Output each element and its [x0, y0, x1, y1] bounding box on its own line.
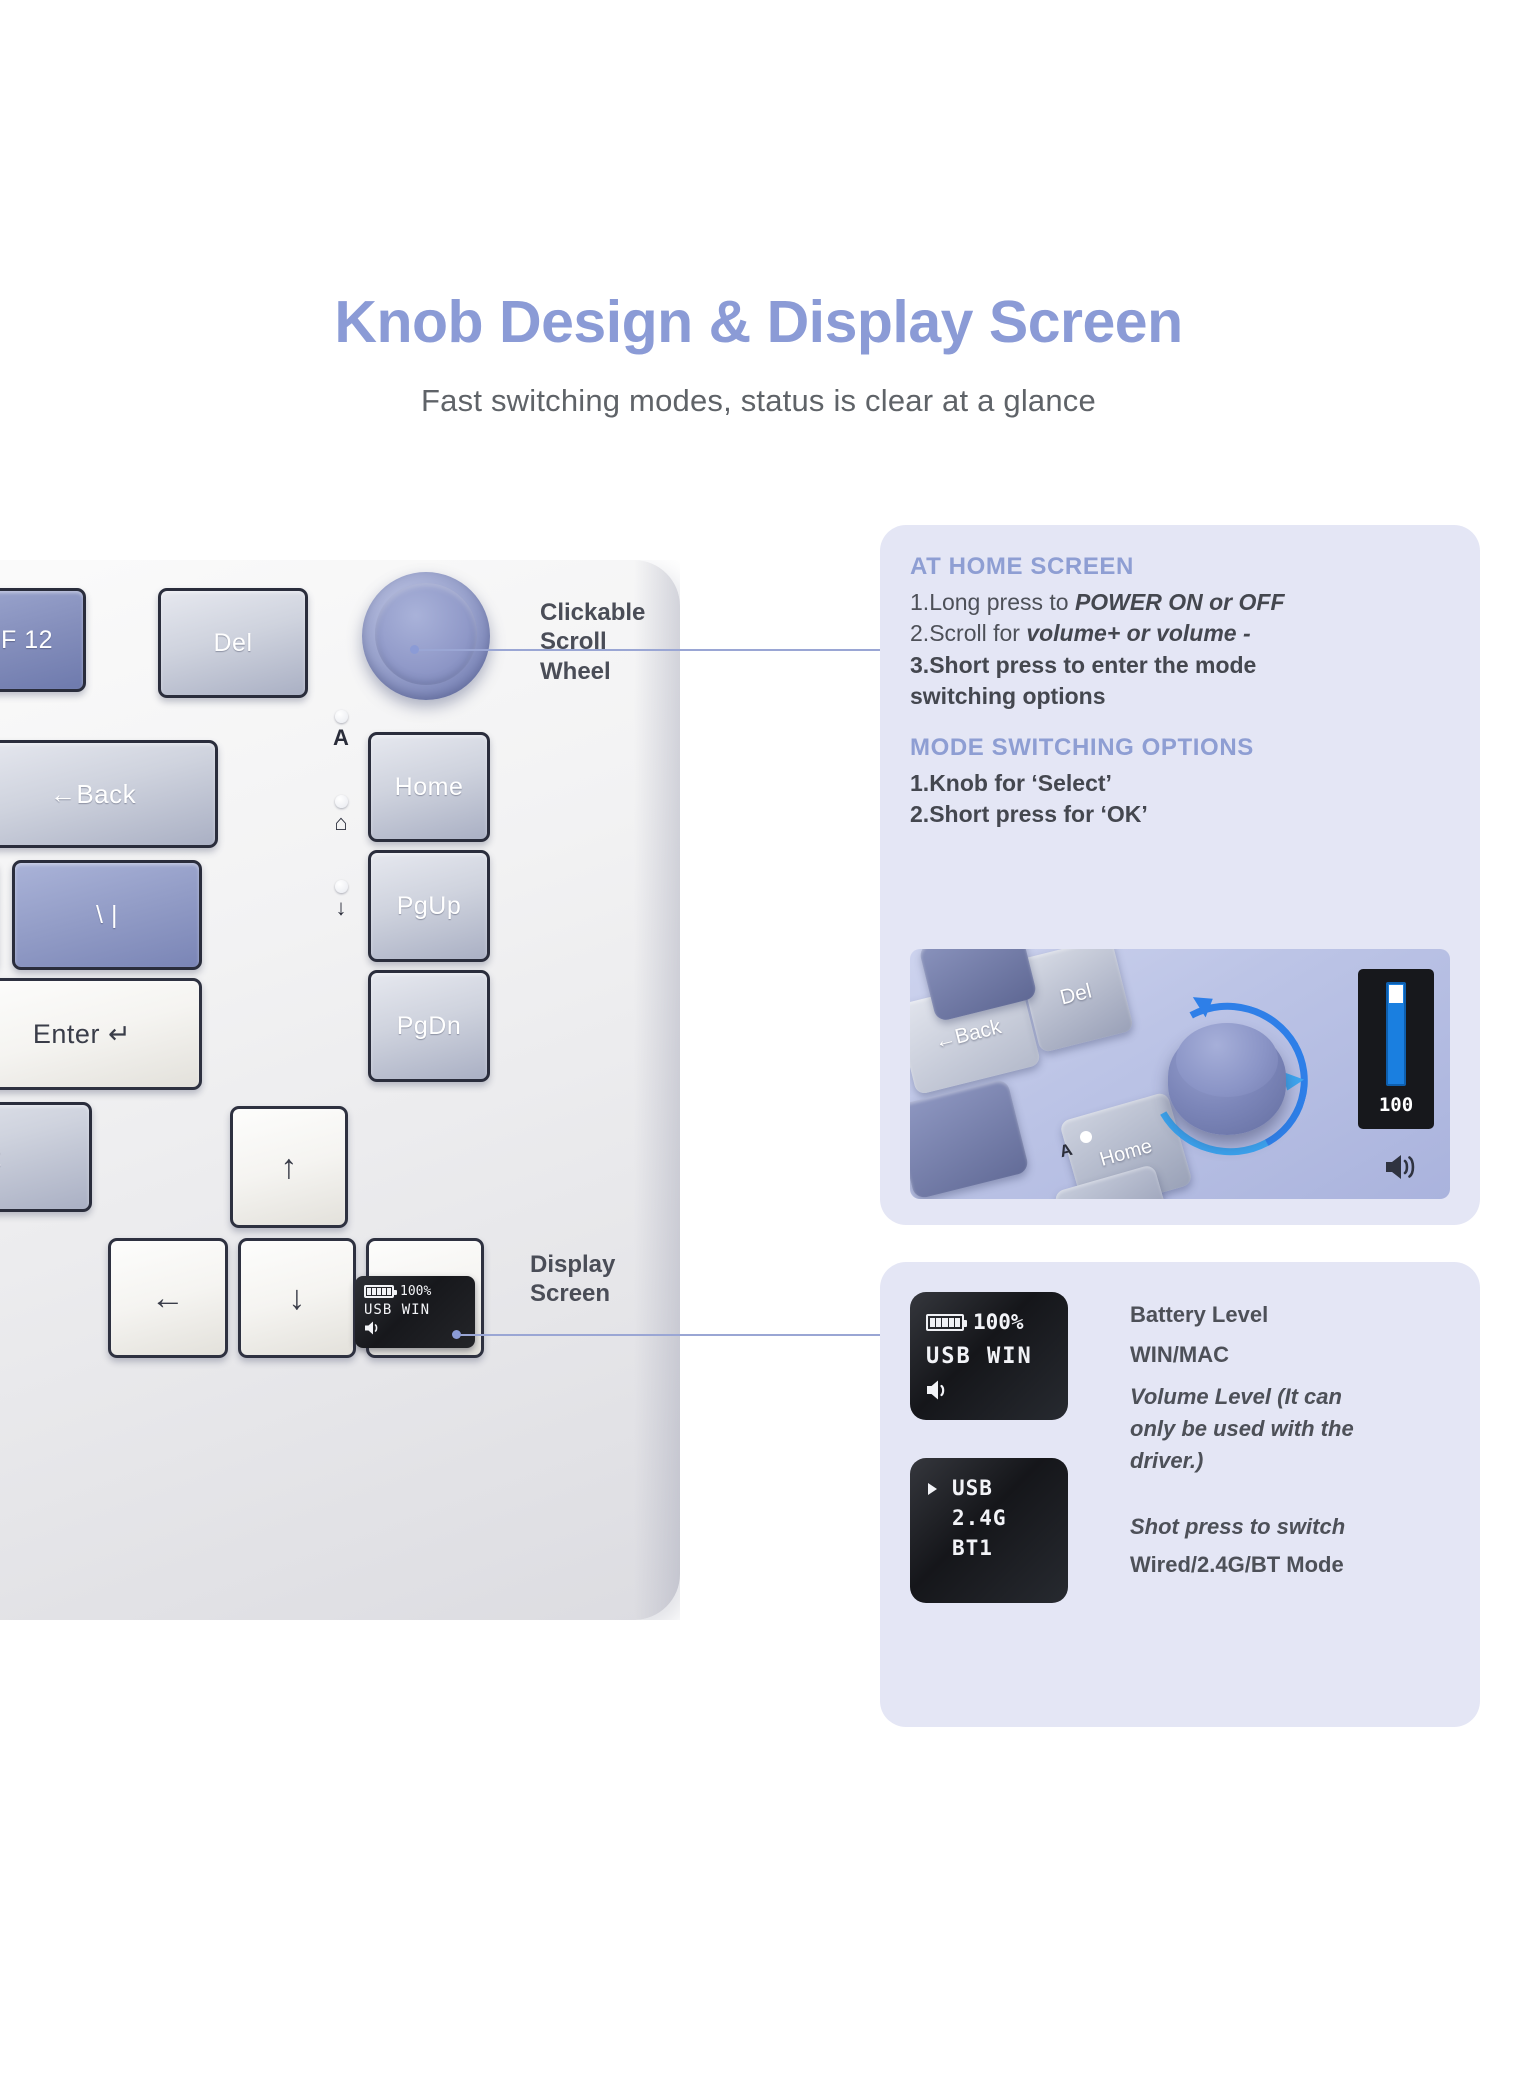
instruction-item: 1.Long press to POWER ON or OFF: [910, 587, 1450, 618]
leader-dot-knob: [410, 645, 419, 654]
annotation-volume-level-2: only be used with the: [1130, 1414, 1354, 1443]
instruction-item-continued: switching options: [910, 681, 1450, 712]
knob-rotation-photo: ←Back Del Home PrtSc A 100: [910, 949, 1450, 1199]
key-enter[interactable]: Enter ↵: [0, 978, 202, 1090]
oled-battery-value: 100%: [973, 1310, 1024, 1334]
annotation-volume-level-3: driver.): [1130, 1446, 1203, 1475]
photo-knob: [1168, 1027, 1286, 1135]
photo-indicator-led: [1080, 1131, 1092, 1143]
keyboard-product-photo: 1 F 12 Del =+ ←Back Home ]} \ | PgUp '' …: [0, 560, 680, 1620]
battery-icon: [926, 1314, 964, 1331]
annotation-volume-level-1: Volume Level (It can: [1130, 1382, 1342, 1411]
leader-dot-display: [452, 1330, 461, 1339]
panel-display-screen-legend: 100% USB WIN Battery Level WIN/MAC Volum…: [880, 1262, 1480, 1727]
item-number: 2.: [910, 620, 929, 646]
section-heading-at-home-screen: AT HOME SCREEN: [910, 553, 1450, 581]
keyboard-edge-shading: [634, 560, 680, 1620]
photo-knob-top-face: [1176, 1023, 1278, 1097]
key-home[interactable]: Home: [368, 732, 490, 842]
volume-bar-indicator: [1386, 982, 1406, 1086]
volume-value: 100: [1379, 1094, 1413, 1116]
key-shift[interactable]: ⇧Shift: [0, 1102, 92, 1212]
scroll-lock-glyph-icon: ⌂: [324, 812, 358, 834]
item-number: 2.: [910, 801, 929, 827]
leader-line-display: [456, 1334, 880, 1336]
item-emphasis: POWER ON or OFF: [1075, 589, 1285, 615]
key-backspace[interactable]: ←Back: [0, 740, 218, 848]
oled-option-bt1: BT1: [926, 1534, 1052, 1564]
callout-clickable-scroll-wheel: Clickable Scroll Wheel: [540, 598, 700, 686]
page-subtitle: Fast switching modes, status is clear at…: [0, 383, 1517, 419]
key-pgup[interactable]: PgUp: [368, 850, 490, 962]
oled-mode-select-screen: USB 2.4G BT1: [910, 1458, 1068, 1603]
oled-status-screen: 100% USB WIN: [910, 1292, 1068, 1420]
indicator-group-caps: A: [324, 710, 358, 749]
battery-icon: [364, 1285, 394, 1298]
item-text: Short press to enter the mode: [929, 652, 1256, 678]
photo-key-dark-2: [910, 1078, 1030, 1199]
callout-display-screen: Display Screen: [530, 1250, 700, 1309]
annotation-win-mac: WIN/MAC: [1130, 1340, 1229, 1369]
item-emphasis: volume+ or volume -: [1026, 620, 1250, 646]
caps-lock-glyph-icon: A: [324, 727, 358, 749]
oled-option-24g: 2.4G: [926, 1504, 1052, 1534]
num-lock-led-icon: [335, 880, 348, 893]
item-number: 1.: [910, 589, 929, 615]
indicator-led-column: A ⌂ ↓: [324, 710, 358, 965]
annotation-wired-24g-bt-mode: Wired/2.4G/BT Mode: [1130, 1550, 1344, 1579]
key-arrow-down[interactable]: ↓: [238, 1238, 356, 1358]
page-header: Knob Design & Display Screen Fast switch…: [0, 0, 1517, 520]
item-number: 3.: [910, 652, 929, 678]
oled-mode-value: USB WIN: [926, 1344, 1052, 1369]
scroll-wheel-knob[interactable]: [362, 572, 490, 700]
instruction-item: 1.Knob for ‘Select’: [910, 768, 1450, 799]
instruction-item: 2.Short press for ‘OK’: [910, 799, 1450, 830]
key-f12[interactable]: F 12: [0, 588, 86, 692]
annotation-battery-level: Battery Level: [1130, 1300, 1268, 1329]
section-spacer: [910, 712, 1450, 734]
callout-line-2: Screen: [530, 1279, 700, 1308]
callout-line-2: Scroll: [540, 627, 700, 656]
key-backslash[interactable]: \ |: [12, 860, 202, 970]
item-text: Long press to: [929, 589, 1075, 615]
instruction-item: 2.Scroll for volume+ or volume -: [910, 618, 1450, 649]
onboard-volume-icon: [364, 1320, 466, 1336]
onboard-mode-value: USB WIN: [364, 1302, 466, 1318]
num-lock-glyph-icon: ↓: [324, 897, 358, 919]
item-text: Scroll for: [929, 620, 1026, 646]
callout-line-3: Wheel: [540, 657, 700, 686]
item-text: Short press for ‘OK’: [929, 801, 1148, 827]
indicator-group-scroll: ⌂: [324, 795, 358, 834]
page-title: Knob Design & Display Screen: [0, 290, 1517, 355]
caps-lock-led-icon: [335, 710, 348, 723]
section-heading-mode-switching-options: MODE SWITCHING OPTIONS: [910, 734, 1450, 762]
oled-option-usb: USB: [926, 1474, 1052, 1504]
scroll-lock-led-icon: [335, 795, 348, 808]
photo-key-del: Del: [1018, 949, 1134, 1053]
key-arrow-up[interactable]: ↑: [230, 1106, 348, 1228]
volume-overlay-speaker-icon: [1384, 1153, 1418, 1186]
knob-inner-face: [375, 583, 477, 685]
panel-knob-instructions: AT HOME SCREEN 1.Long press to POWER ON …: [880, 525, 1480, 1225]
oled-battery-row: 100%: [926, 1310, 1052, 1334]
key-pgdn[interactable]: PgDn: [368, 970, 490, 1082]
key-del[interactable]: Del: [158, 588, 308, 698]
callout-line-1: Display: [530, 1250, 700, 1279]
volume-overlay-display: 100: [1358, 969, 1434, 1129]
item-number: 1.: [910, 770, 929, 796]
item-text: Knob for ‘Select’: [929, 770, 1112, 796]
onboard-battery-value: 100%: [400, 1284, 431, 1299]
key-arrow-left[interactable]: ←: [108, 1238, 228, 1358]
annotation-short-press-switch: Shot press to switch: [1130, 1512, 1345, 1541]
callout-line-1: Clickable: [540, 598, 700, 627]
indicator-group-num: ↓: [324, 880, 358, 919]
oled-volume-icon: [926, 1379, 1052, 1401]
onboard-battery-row: 100%: [364, 1284, 466, 1299]
instruction-item: 3.Short press to enter the mode: [910, 650, 1450, 681]
